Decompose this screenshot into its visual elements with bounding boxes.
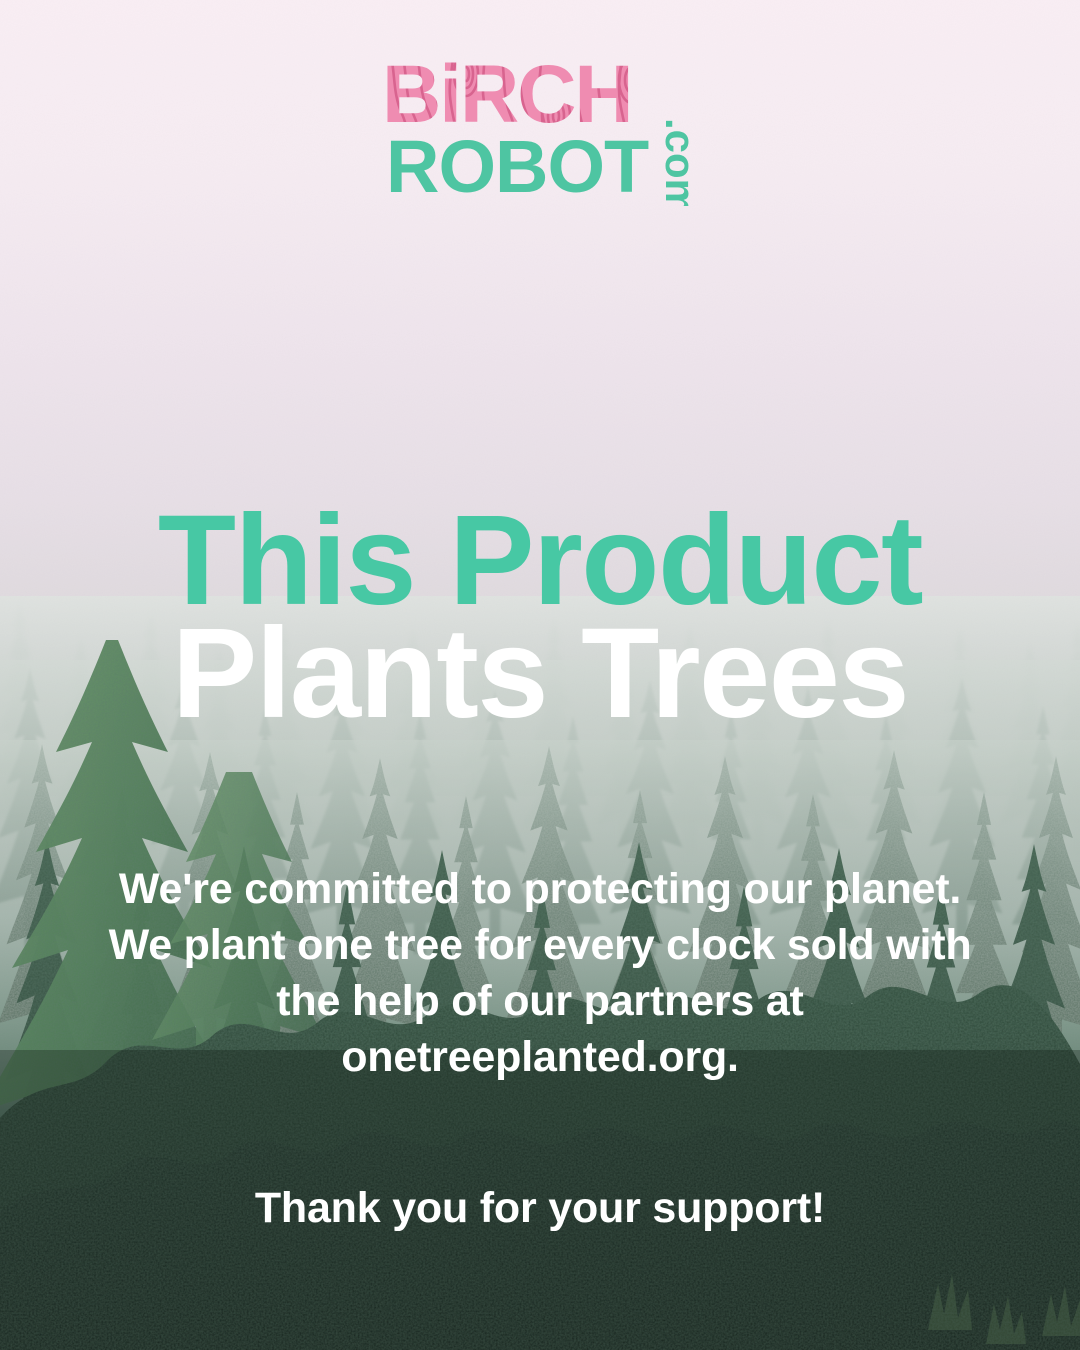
brand-logo[interactable]: BiRCH ROBOT .com bbox=[0, 44, 1080, 206]
birchrobot-logo-svg: BiRCH ROBOT .com bbox=[380, 44, 700, 206]
headline-line-1: This Product bbox=[0, 505, 1080, 618]
logo-word-robot: ROBOT bbox=[386, 125, 649, 206]
body-paragraph: We're committed to protecting our planet… bbox=[85, 862, 995, 1086]
thank-you-text: Thank you for your support! bbox=[0, 1183, 1080, 1235]
closing-block: Thank you for your support! bbox=[0, 1183, 1080, 1235]
logo-text-dotcom: .com bbox=[657, 118, 700, 206]
headline-line-2: Plants Trees bbox=[0, 618, 1080, 731]
poster-canvas: BiRCH ROBOT .com This Product Plants Tre… bbox=[0, 0, 1080, 1350]
body-block: We're committed to protecting our planet… bbox=[85, 862, 995, 1086]
logo-text-robot: ROBOT bbox=[386, 125, 649, 206]
headline-block: This Product Plants Trees bbox=[0, 505, 1080, 730]
logo-word-dotcom: .com bbox=[657, 118, 700, 206]
